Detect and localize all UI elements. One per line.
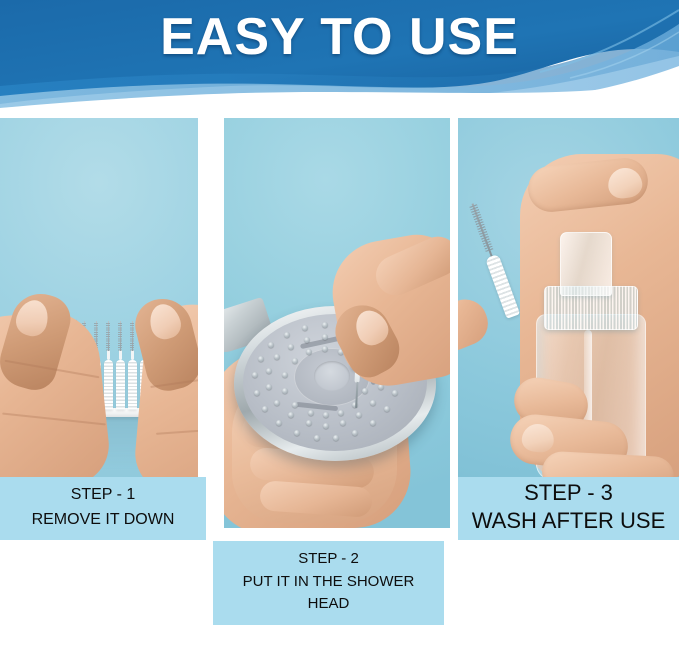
header-banner: EASY TO USE <box>0 0 679 110</box>
nozzle <box>340 420 346 426</box>
nozzle <box>262 406 268 412</box>
step-3-description: WASH AFTER USE <box>458 507 679 535</box>
nozzle <box>274 354 280 360</box>
step-photo-1 <box>0 118 198 477</box>
nozzle <box>338 410 344 416</box>
nozzle <box>258 356 264 362</box>
step-3-heading: STEP - 3 <box>458 479 679 507</box>
nozzle <box>268 342 274 348</box>
step-2-description: PUT IT IN THE SHOWER HEAD <box>213 571 444 615</box>
nozzle <box>276 420 282 426</box>
nozzle <box>352 430 358 436</box>
step-photo-3 <box>458 118 679 477</box>
step-photo-2 <box>224 118 450 528</box>
nozzle <box>323 412 329 418</box>
brush-on-strip <box>104 358 113 410</box>
nozzle <box>333 435 339 441</box>
nozzle <box>274 400 280 406</box>
step-1-heading: STEP - 1 <box>0 483 206 507</box>
infographic-page: EASY TO USE <box>0 0 679 660</box>
nozzle <box>282 388 288 394</box>
step-label-2: STEP - 2 PUT IT IN THE SHOWER HEAD <box>213 541 444 625</box>
nozzle <box>392 390 398 396</box>
step-label-3: STEP - 3 WASH AFTER USE <box>458 477 679 540</box>
nozzle <box>266 384 272 390</box>
nozzle <box>304 337 310 343</box>
nozzle <box>288 412 294 418</box>
nozzle <box>254 390 260 396</box>
step-label-1: STEP - 1 REMOVE IT DOWN <box>0 477 206 540</box>
brush-on-strip <box>116 358 125 410</box>
nozzle <box>292 402 298 408</box>
nozzle <box>322 346 328 352</box>
nozzle <box>306 349 312 355</box>
nozzle <box>266 368 272 374</box>
nozzle <box>294 430 300 436</box>
bottle-spray-nozzle <box>560 232 612 296</box>
nozzle <box>306 420 312 426</box>
nozzle <box>322 334 328 340</box>
nozzle <box>302 325 308 331</box>
nozzle <box>370 420 376 426</box>
nozzle <box>292 358 298 364</box>
nozzle <box>282 372 288 378</box>
nozzle <box>384 406 390 412</box>
step-2-heading: STEP - 2 <box>213 547 444 571</box>
nozzle <box>288 344 294 350</box>
nozzle <box>308 410 314 416</box>
nozzle <box>284 332 290 338</box>
brush-on-strip <box>128 358 137 410</box>
nozzle <box>356 412 362 418</box>
nozzle <box>322 322 328 328</box>
nozzle <box>252 372 258 378</box>
nozzle <box>314 435 320 441</box>
nozzle <box>370 400 376 406</box>
step-1-description: REMOVE IT DOWN <box>0 507 206 533</box>
nozzle <box>323 423 329 429</box>
shower-head-center <box>314 361 350 391</box>
page-title: EASY TO USE <box>0 6 679 68</box>
